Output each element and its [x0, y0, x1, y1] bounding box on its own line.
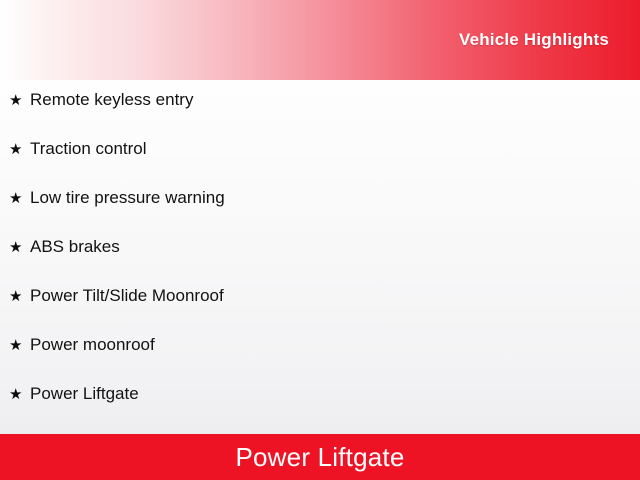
list-item: ★ Traction control [0, 140, 640, 189]
list-item: ★ Power Liftgate [0, 385, 640, 434]
footer-caption-text: Power Liftgate [235, 442, 404, 473]
list-item-label: Power Tilt/Slide Moonroof [30, 287, 640, 304]
list-item: ★ ABS brakes [0, 238, 640, 287]
header-banner: Vehicle Highlights [0, 0, 640, 80]
star-icon: ★ [9, 338, 30, 353]
star-icon: ★ [9, 240, 30, 255]
list-item-label: Traction control [30, 140, 640, 157]
list-item-label: Power moonroof [30, 336, 640, 353]
list-item-label: ABS brakes [30, 238, 640, 255]
list-item: ★ Power Tilt/Slide Moonroof [0, 287, 640, 336]
list-item-label: Low tire pressure warning [30, 189, 640, 206]
star-icon: ★ [9, 387, 30, 402]
star-icon: ★ [9, 191, 30, 206]
star-icon: ★ [9, 289, 30, 304]
highlights-list: ★ Remote keyless entry ★ Traction contro… [0, 91, 640, 434]
list-item: ★ Remote keyless entry [0, 91, 640, 140]
list-item: ★ Power moonroof [0, 336, 640, 385]
highlights-panel: ★ Remote keyless entry ★ Traction contro… [0, 80, 640, 434]
footer-caption-bar: Power Liftgate [0, 434, 640, 480]
vehicle-highlights-slide: Vehicle Highlights ★ Remote keyless entr… [0, 0, 640, 480]
star-icon: ★ [9, 142, 30, 157]
page-title: Vehicle Highlights [459, 30, 640, 50]
star-icon: ★ [9, 93, 30, 108]
list-item-label: Power Liftgate [30, 385, 640, 402]
list-item: ★ Low tire pressure warning [0, 189, 640, 238]
list-item-label: Remote keyless entry [30, 91, 640, 108]
